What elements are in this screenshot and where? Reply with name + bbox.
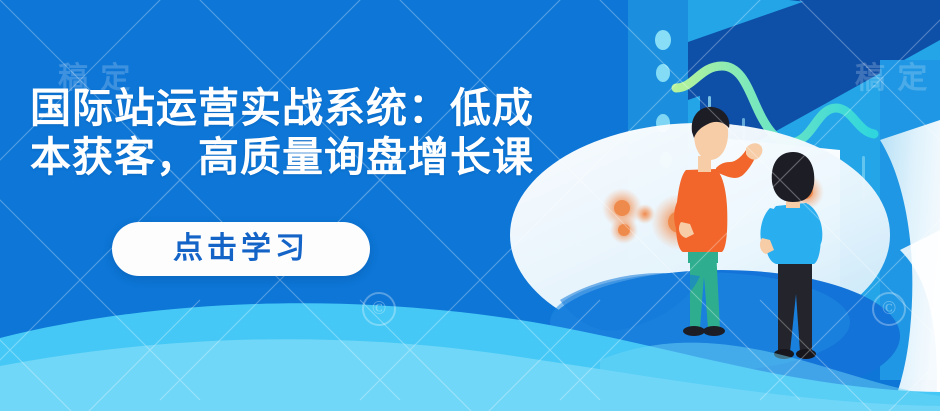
title-line-1: 国际站运营实战系统：低成 (30, 84, 630, 133)
deco-dot-2 (656, 64, 670, 82)
click-to-learn-button[interactable]: 点击学习 (112, 222, 370, 276)
background-artwork (0, 0, 940, 411)
title-line-2: 本获客，高质量询盘增长课 (30, 133, 630, 182)
marker-dot-core-3 (618, 224, 630, 236)
headline-block: 国际站运营实战系统：低成 本获客，高质量询盘增长课 (30, 84, 630, 182)
deco-dot-1 (655, 30, 671, 50)
marker-dot-tiny (635, 204, 655, 224)
marker-dot-core-2 (614, 200, 630, 216)
cta-button-label: 点击学习 (173, 234, 309, 264)
promo-banner: 国际站运营实战系统：低成 本获客，高质量询盘增长课 点击学习 稿 定 稿 定 ©… (0, 0, 940, 411)
